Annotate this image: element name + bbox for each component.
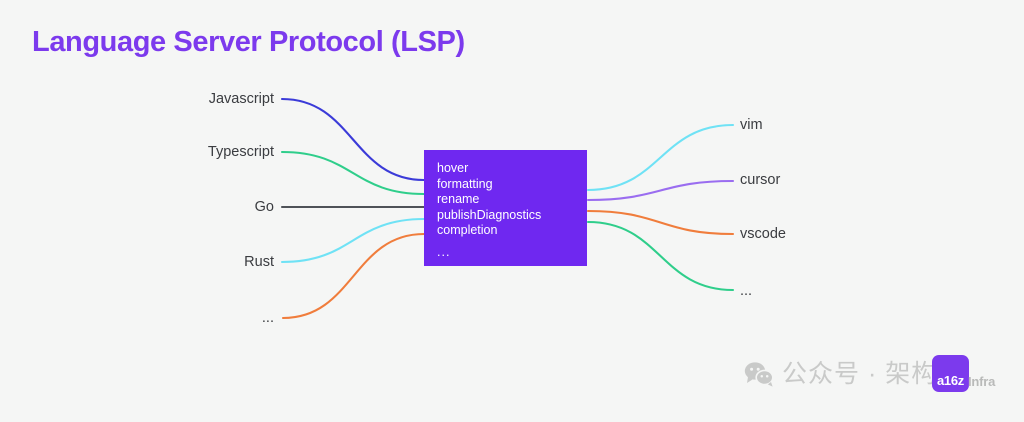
right-node-moremoremore: ... xyxy=(740,284,752,299)
edge-Javascript xyxy=(282,99,424,180)
slide-canvas: Language Server Protocol (LSP) Javascrip… xyxy=(0,0,1024,422)
left-edges xyxy=(282,99,424,318)
lsp-feature-item: completion xyxy=(437,223,587,239)
right-edges xyxy=(588,125,733,290)
lsp-feature-item: rename xyxy=(437,192,587,208)
a16z-logo-badge: a16z xyxy=(932,355,969,392)
lsp-feature-list: hoverformattingrenamepublishDiagnosticsc… xyxy=(437,161,587,261)
left-node-Go: Go xyxy=(0,200,274,215)
right-node-vim: vim xyxy=(740,118,763,133)
left-node-Javascript: Javascript xyxy=(0,92,274,107)
edge-Typescript xyxy=(282,152,424,194)
lsp-feature-item: ... xyxy=(437,245,587,261)
watermark: 公众号 · 架构师 xyxy=(744,356,963,392)
edge-vim xyxy=(588,125,733,190)
right-node-vscode: vscode xyxy=(740,227,786,242)
edge-vscode xyxy=(588,211,733,234)
edge-cursor xyxy=(588,181,733,200)
lsp-feature-item: hover xyxy=(437,161,587,177)
left-node-Typescript: Typescript xyxy=(0,145,274,160)
edge-moremoremore xyxy=(283,234,424,318)
a16z-infra-label: Infra xyxy=(968,374,995,389)
left-node-moremoremore: ... xyxy=(0,311,274,326)
wechat-icon xyxy=(744,361,774,387)
lsp-feature-item: publishDiagnostics xyxy=(437,208,587,224)
edge-Rust xyxy=(282,219,424,262)
lsp-feature-item: formatting xyxy=(437,177,587,193)
right-node-cursor: cursor xyxy=(740,173,780,188)
left-node-Rust: Rust xyxy=(0,255,274,270)
lsp-capabilities-box: hoverformattingrenamepublishDiagnosticsc… xyxy=(424,150,587,266)
